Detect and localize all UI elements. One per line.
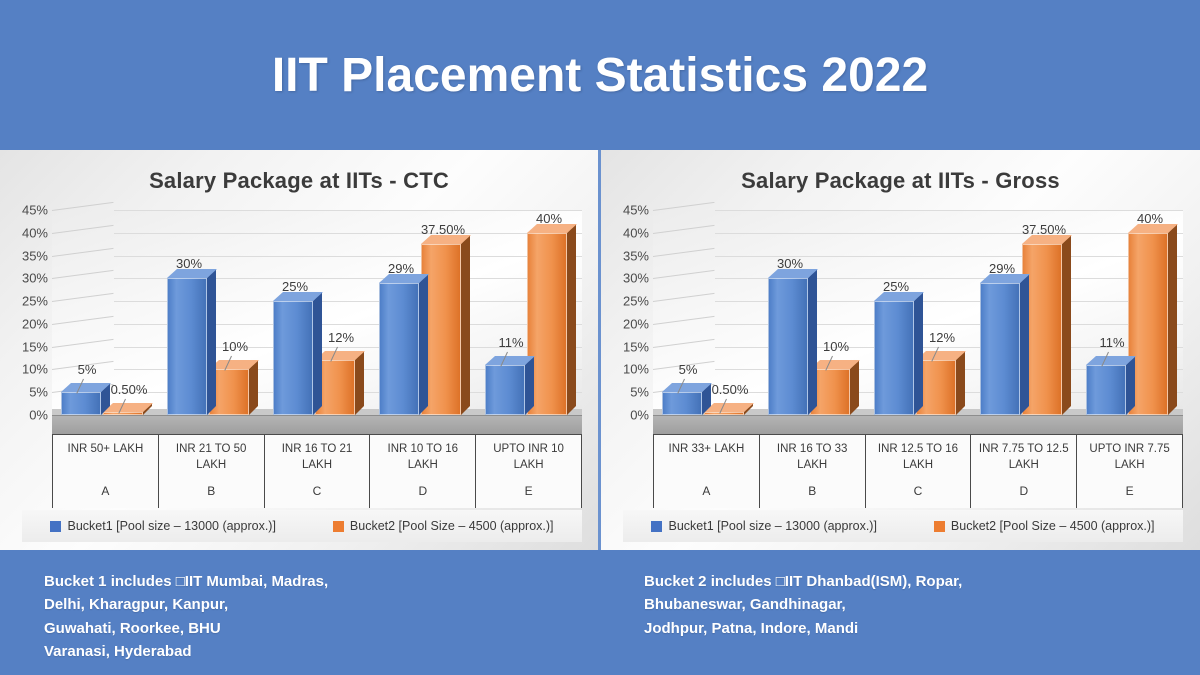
y-axis-tick: 5% <box>4 385 48 400</box>
y-axis-tick: 10% <box>4 362 48 377</box>
legend-ctc[interactable]: Bucket1 [Pool size – 13000 (approx.)]Buc… <box>22 510 582 542</box>
legend-gross[interactable]: Bucket1 [Pool size – 13000 (approx.)]Buc… <box>623 510 1183 542</box>
legend-swatch-icon <box>333 521 344 532</box>
legend-label: Bucket2 [Pool Size – 4500 (approx.)] <box>350 519 554 533</box>
y-axis-tick: 0% <box>605 408 649 423</box>
data-label: 37.50% <box>421 222 465 237</box>
y-axis-tick: 40% <box>605 225 649 240</box>
category-cell-b[interactable]: INR 16 TO 33 LAKHB <box>760 435 866 508</box>
y-axis-gross: 45%40%35%30%25%20%15%10%5%0% <box>605 202 649 424</box>
category-letter: E <box>476 484 581 498</box>
category-label: UPTO INR 10 LAKH <box>476 442 581 473</box>
bar-bucket1-a[interactable] <box>61 392 101 415</box>
category-label: INR 10 TO 16 LAKH <box>370 442 475 473</box>
footnote-line: Delhi, Kharagpur, Kanpur, <box>44 593 600 616</box>
y-axis-tick: 15% <box>605 339 649 354</box>
chart-floor-ctc <box>52 415 582 434</box>
page-title: IIT Placement Statistics 2022 <box>272 48 928 103</box>
data-label: 0.50% <box>712 382 749 397</box>
bars-container-gross: 5%0.50%30%10%25%12%29%37.50%11%40% <box>653 210 1183 415</box>
footnote-line: Guwahati, Roorkee, BHU <box>44 617 600 640</box>
data-label: 5% <box>679 362 698 377</box>
bar-bucket1-a[interactable] <box>662 392 702 415</box>
data-label: 12% <box>328 330 354 345</box>
bars-container-ctc: 5%0.50%30%10%25%12%29%37.50%11%40% <box>52 210 582 415</box>
data-label: 29% <box>989 261 1015 276</box>
category-cell-d[interactable]: INR 10 TO 16 LAKHD <box>370 435 476 508</box>
legend-swatch-icon <box>651 521 662 532</box>
chart-title-ctc: Salary Package at IITs - CTC <box>0 168 598 194</box>
charts-row: Salary Package at IITs - CTC 45%40%35%30… <box>0 150 1200 550</box>
category-cell-c[interactable]: INR 16 TO 21 LAKHC <box>265 435 371 508</box>
category-label: INR 33+ LAKH <box>666 442 748 458</box>
category-letter: B <box>760 484 865 498</box>
y-axis-tick: 5% <box>605 385 649 400</box>
category-label: INR 16 TO 21 LAKH <box>265 442 370 473</box>
y-axis-tick: 25% <box>605 294 649 309</box>
y-axis-tick: 0% <box>4 408 48 423</box>
bar-bucket1-d[interactable] <box>379 283 419 415</box>
bar-bucket1-d[interactable] <box>980 283 1020 415</box>
data-label: 40% <box>536 211 562 226</box>
category-letter: D <box>370 484 475 498</box>
y-axis-tick: 15% <box>4 339 48 354</box>
y-axis-tick: 45% <box>605 203 649 218</box>
category-letter: C <box>265 484 370 498</box>
legend-item-2[interactable]: Bucket2 [Pool Size – 4500 (approx.)] <box>333 519 554 533</box>
y-axis-tick: 45% <box>4 203 48 218</box>
category-letter: E <box>1077 484 1182 498</box>
data-label: 10% <box>823 339 849 354</box>
category-axis-ctc: INR 50+ LAKHAINR 21 TO 50 LAKHBINR 16 TO… <box>52 434 582 508</box>
data-label: 25% <box>282 279 308 294</box>
category-letter: A <box>53 484 158 498</box>
legend-label: Bucket1 [Pool size – 13000 (approx.)] <box>668 519 876 533</box>
y-axis-tick: 20% <box>4 316 48 331</box>
y-axis-tick: 20% <box>605 316 649 331</box>
legend-swatch-icon <box>50 521 61 532</box>
data-label: 25% <box>883 279 909 294</box>
footnote-bucket-1: Bucket 1 includes □IIT Mumbai, Madras,De… <box>0 550 600 675</box>
category-cell-b[interactable]: INR 21 TO 50 LAKHB <box>159 435 265 508</box>
chart-panel-gross[interactable]: Salary Package at IITs - Gross 45%40%35%… <box>600 150 1200 550</box>
data-label: 11% <box>1099 335 1124 350</box>
y-axis-tick: 10% <box>605 362 649 377</box>
bar-bucket2-a[interactable] <box>704 412 744 415</box>
category-cell-e[interactable]: UPTO INR 10 LAKHE <box>476 435 582 508</box>
category-cell-d[interactable]: INR 7.75 TO 12.5 LAKHD <box>971 435 1077 508</box>
category-label: UPTO INR 7.75 LAKH <box>1077 442 1182 473</box>
chart-title-gross: Salary Package at IITs - Gross <box>601 168 1200 194</box>
data-label: 40% <box>1137 211 1163 226</box>
data-label: 5% <box>78 362 97 377</box>
legend-item-1[interactable]: Bucket1 [Pool size – 13000 (approx.)] <box>50 519 275 533</box>
y-axis-tick: 35% <box>4 248 48 263</box>
category-cell-a[interactable]: INR 50+ LAKHA <box>52 435 159 508</box>
category-cell-a[interactable]: INR 33+ LAKHA <box>653 435 760 508</box>
bar-bucket1-b[interactable] <box>768 278 808 415</box>
category-letter: D <box>971 484 1076 498</box>
bar-bucket1-b[interactable] <box>167 278 207 415</box>
data-label: 10% <box>222 339 248 354</box>
footnote-line: Jodhpur, Patna, Indore, Mandi <box>644 617 1200 640</box>
y-axis-tick: 35% <box>605 248 649 263</box>
data-label: 0.50% <box>111 382 148 397</box>
data-label: 11% <box>498 335 523 350</box>
category-label: INR 16 TO 33 LAKH <box>760 442 865 473</box>
bar-bucket1-c[interactable] <box>874 301 914 415</box>
legend-label: Bucket1 [Pool size – 13000 (approx.)] <box>67 519 275 533</box>
y-axis-tick: 30% <box>4 271 48 286</box>
footnote-bucket-2: Bucket 2 includes □IIT Dhanbad(ISM), Rop… <box>600 550 1200 675</box>
category-cell-e[interactable]: UPTO INR 7.75 LAKHE <box>1077 435 1183 508</box>
data-label: 30% <box>176 256 202 271</box>
category-axis-gross: INR 33+ LAKHAINR 16 TO 33 LAKHBINR 12.5 … <box>653 434 1183 508</box>
bar-bucket1-e[interactable] <box>485 365 525 415</box>
y-axis-ctc: 45%40%35%30%25%20%15%10%5%0% <box>4 202 48 424</box>
data-label: 30% <box>777 256 803 271</box>
legend-label: Bucket2 [Pool Size – 4500 (approx.)] <box>951 519 1155 533</box>
y-axis-tick: 25% <box>4 294 48 309</box>
bar-bucket1-e[interactable] <box>1086 365 1126 415</box>
legend-item-2[interactable]: Bucket2 [Pool Size – 4500 (approx.)] <box>934 519 1155 533</box>
footnote-line: Varanasi, Hyderabad <box>44 640 600 663</box>
footnotes: Bucket 1 includes □IIT Mumbai, Madras,De… <box>0 550 1200 675</box>
legend-swatch-icon <box>934 521 945 532</box>
footnote-line: Bucket 1 includes □IIT Mumbai, Madras, <box>44 570 600 593</box>
footnote-line: Bhubaneswar, Gandhinagar, <box>644 593 1200 616</box>
category-letter: A <box>654 484 759 498</box>
category-label: INR 50+ LAKH <box>65 442 147 458</box>
category-letter: B <box>159 484 264 498</box>
y-axis-tick: 40% <box>4 225 48 240</box>
category-label: INR 7.75 TO 12.5 LAKH <box>971 442 1076 473</box>
chart-floor-gross <box>653 415 1183 434</box>
bar-bucket2-a[interactable] <box>103 412 143 415</box>
legend-item-1[interactable]: Bucket1 [Pool size – 13000 (approx.)] <box>651 519 876 533</box>
data-label: 29% <box>388 261 414 276</box>
category-cell-c[interactable]: INR 12.5 TO 16 LAKHC <box>866 435 972 508</box>
y-axis-tick: 30% <box>605 271 649 286</box>
category-letter: C <box>866 484 971 498</box>
footnote-line: Bucket 2 includes □IIT Dhanbad(ISM), Rop… <box>644 570 1200 593</box>
data-label: 12% <box>929 330 955 345</box>
slide-title-band: IIT Placement Statistics 2022 <box>0 0 1200 150</box>
data-label: 37.50% <box>1022 222 1066 237</box>
chart-panel-ctc[interactable]: Salary Package at IITs - CTC 45%40%35%30… <box>0 150 600 550</box>
bar-bucket1-c[interactable] <box>273 301 313 415</box>
category-label: INR 21 TO 50 LAKH <box>159 442 264 473</box>
category-label: INR 12.5 TO 16 LAKH <box>866 442 971 473</box>
